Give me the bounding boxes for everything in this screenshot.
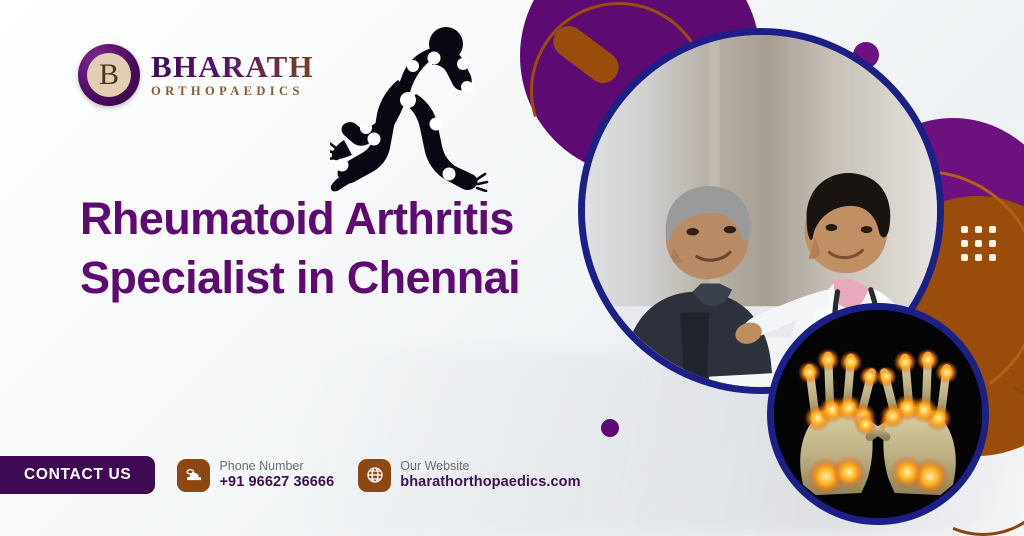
website-contact-item[interactable]: Our Website bharathorthopaedics.com: [358, 459, 580, 492]
page-title: Rheumatoid Arthritis Specialist in Chenn…: [80, 190, 580, 308]
brand-logo-text: BHARATH ORTHOPAEDICS: [151, 51, 314, 99]
website-url: bharathorthopaedics.com: [400, 474, 580, 492]
phone-number: +91 96627 36666: [219, 474, 334, 492]
purple-dot-decoration-small: [601, 419, 619, 437]
telephone-icon: [177, 459, 210, 492]
website-label: Our Website: [400, 459, 580, 474]
brand-name: BHARATH: [151, 51, 314, 83]
globe-icon: [358, 459, 391, 492]
bharath-b-monogram-icon: B: [78, 44, 140, 106]
phone-label: Phone Number: [219, 459, 334, 474]
contact-bar: CONTACT US Phone Number +91 96627 36666: [0, 452, 1024, 498]
brand-subtitle: ORTHOPAEDICS: [151, 84, 314, 99]
dot-grid-decoration: [961, 226, 996, 261]
phone-contact-item[interactable]: Phone Number +91 96627 36666: [177, 459, 334, 492]
contact-us-button[interactable]: CONTACT US: [0, 456, 155, 494]
promotional-banner: B BHARATH ORTHOPAEDICS: [0, 0, 1024, 536]
brand-logo[interactable]: B BHARATH ORTHOPAEDICS: [78, 44, 314, 106]
running-figure-joints-icon: [330, 22, 490, 192]
phone-text-block: Phone Number +91 96627 36666: [219, 459, 334, 492]
logo-letter: B: [87, 53, 131, 97]
website-text-block: Our Website bharathorthopaedics.com: [400, 459, 580, 492]
